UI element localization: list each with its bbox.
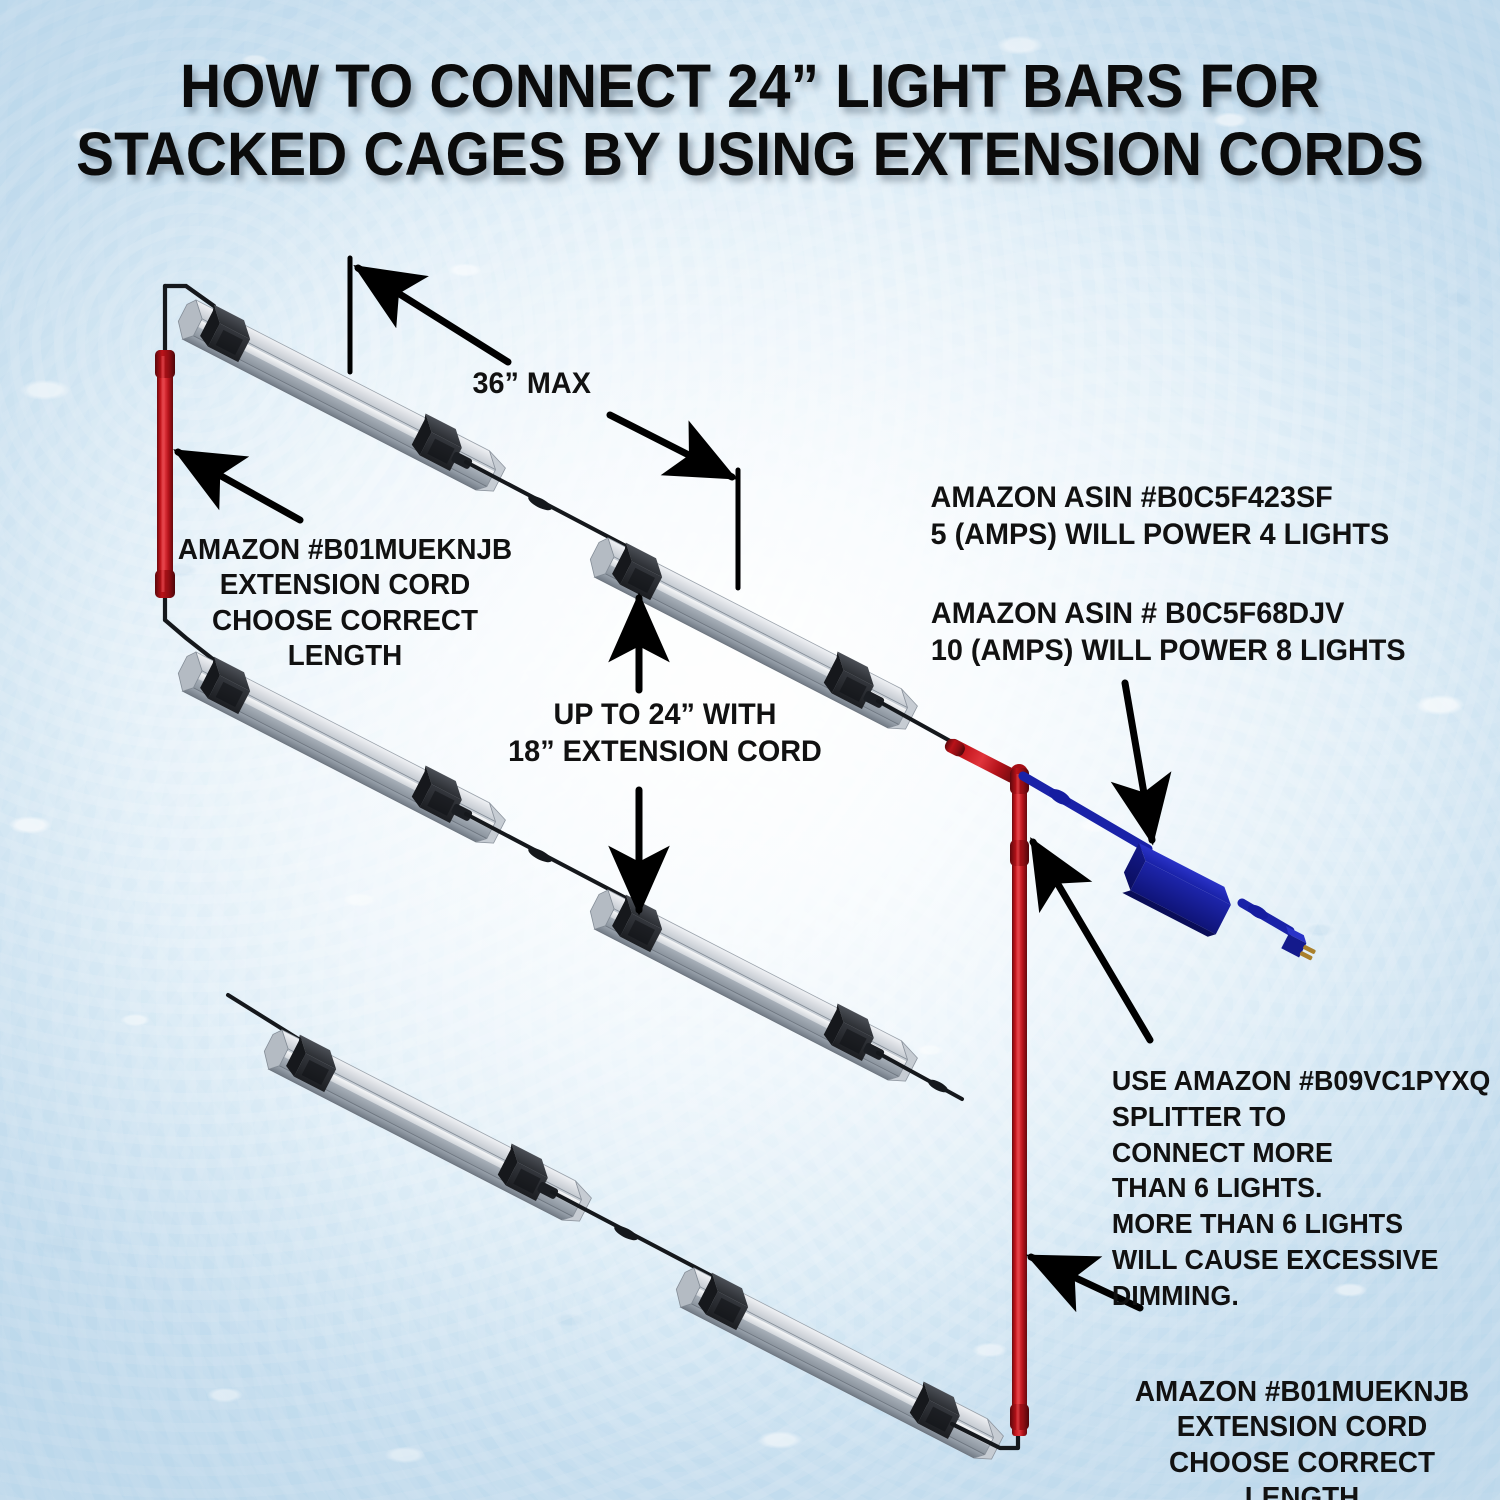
note-up-to-24: UP TO 24” WITH 18” EXTENSION CORD xyxy=(507,697,824,770)
note-asin-10amp: AMAZON ASIN # B0C5F68DJV 10 (AMPS) WILL … xyxy=(931,596,1406,669)
infographic-canvas: HOW TO CONNECT 24” LIGHT BARS FOR STACKE… xyxy=(0,0,1500,1500)
arrow-power-supply xyxy=(1125,683,1152,840)
cable-lead-in-row3 xyxy=(228,995,300,1040)
light-bar-5 xyxy=(258,1024,597,1228)
light-bar-3 xyxy=(172,646,511,850)
arrow-max-right xyxy=(610,415,732,477)
note-left-extension-cord: AMAZON #B01MUEKNJB EXTENSION CORD CHOOSE… xyxy=(167,533,522,675)
extension-cord-right xyxy=(943,737,1029,1436)
note-asin-5amp: AMAZON ASIN #B0C5F423SF 5 (AMPS) WILL PO… xyxy=(931,480,1390,553)
light-bar-1 xyxy=(172,294,511,498)
light-bar-4 xyxy=(584,884,923,1088)
note-splitter: USE AMAZON #B09VC1PYXQ SPLITTER TO CONNE… xyxy=(1112,1063,1490,1314)
arrow-left-cord xyxy=(178,452,300,520)
note-bottom-extension-cord: AMAZON #B01MUEKNJB EXTENSION CORD CHOOSE… xyxy=(1120,1375,1485,1500)
cord-connector-top xyxy=(155,350,175,378)
callout-arrows xyxy=(178,258,1152,1308)
note-36-max: 36” MAX xyxy=(472,366,590,403)
power-supply xyxy=(1023,776,1320,963)
power-supply-brick xyxy=(1115,843,1237,940)
arrow-max-left xyxy=(358,268,508,362)
light-bar-6 xyxy=(670,1262,1009,1466)
